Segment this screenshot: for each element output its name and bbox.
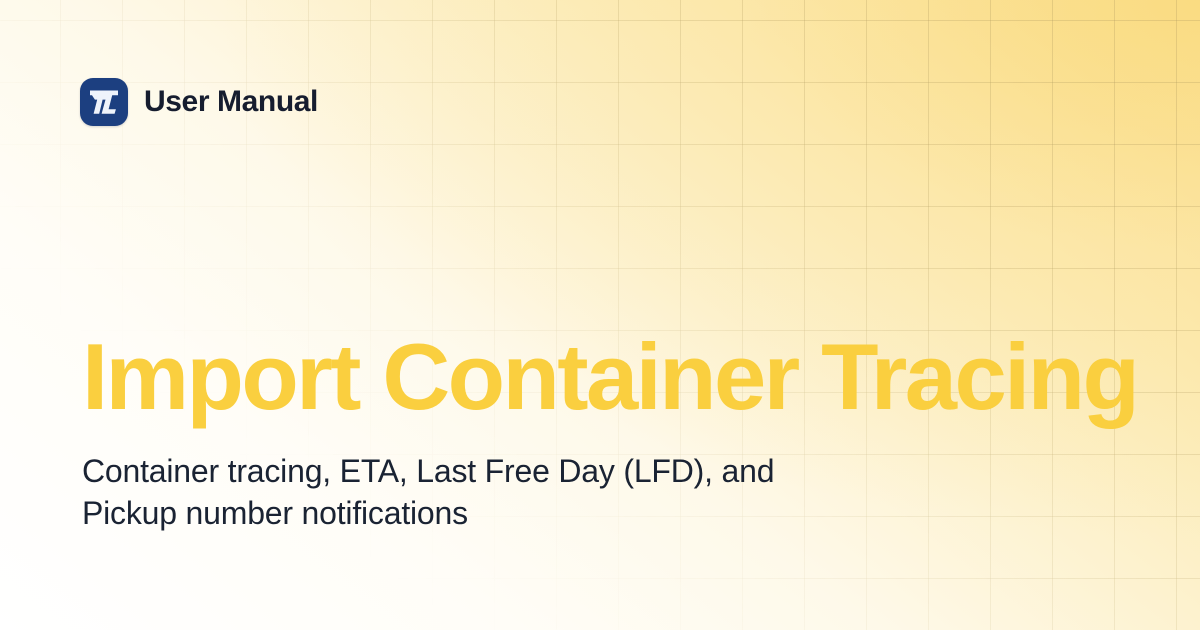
subtitle-line-2: Pickup number notifications <box>82 492 872 534</box>
brand-row: User Manual <box>80 78 318 126</box>
subtitle-line-1: Container tracing, ETA, Last Free Day (L… <box>82 450 872 492</box>
card-content: User Manual Import Container Tracing Con… <box>0 0 1200 630</box>
page-title: Import Container Tracing <box>82 330 1130 424</box>
hero-text-block: Import Container Tracing Container traci… <box>82 330 1130 534</box>
page-subtitle: Container tracing, ETA, Last Free Day (L… <box>82 450 872 534</box>
brand-label: User Manual <box>144 87 318 117</box>
tz-monogram-icon <box>80 78 128 126</box>
hero-banner-card: User Manual Import Container Tracing Con… <box>0 0 1200 630</box>
